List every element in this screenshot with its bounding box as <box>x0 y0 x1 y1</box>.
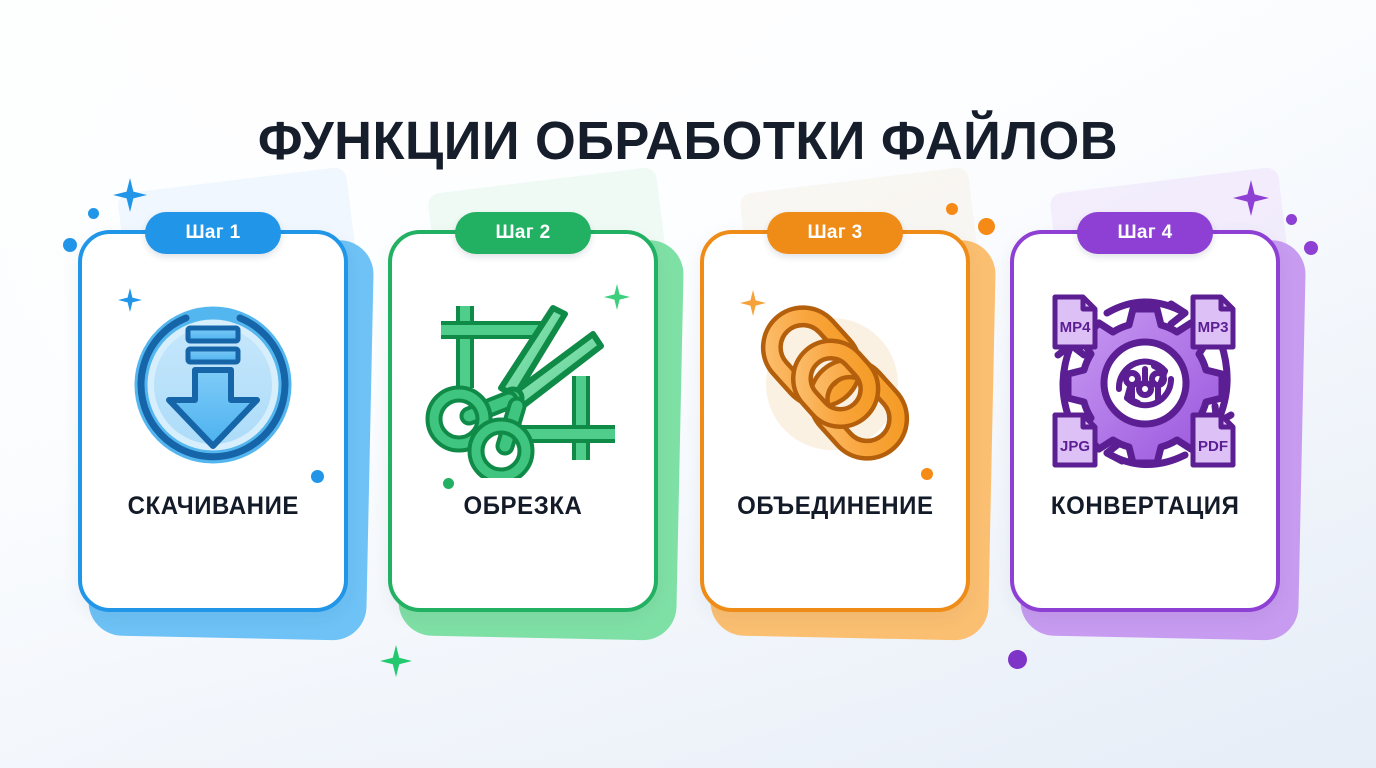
scissors-crop-icon <box>418 280 628 486</box>
card-label: ОБЪЕДИНЕНИЕ <box>737 492 934 521</box>
card-label: СКАЧИВАНИЕ <box>127 492 298 521</box>
card-step-2[interactable]: Шаг 2 <box>388 196 678 646</box>
file-badge-label: MP4 <box>1060 319 1092 336</box>
card-face[interactable]: Шаг 2 <box>388 230 658 612</box>
file-badge-label: JPG <box>1060 438 1090 455</box>
card-step-3[interactable]: Шаг 3 <box>700 196 990 646</box>
card-label: ОБРЕЗКА <box>463 492 582 521</box>
step-badge[interactable]: Шаг 1 <box>145 212 281 254</box>
download-icon <box>108 280 318 486</box>
card-face[interactable]: Шаг 4 <box>1010 230 1280 612</box>
cards-row: Шаг 1 <box>0 196 1376 666</box>
file-badge-label: PDF <box>1198 438 1228 455</box>
chain-link-icon <box>730 280 940 486</box>
card-step-1[interactable]: Шаг 1 <box>78 196 368 646</box>
card-label: КОНВЕРТАЦИЯ <box>1051 492 1240 521</box>
card-face[interactable]: Шаг 3 <box>700 230 970 612</box>
card-step-4[interactable]: Шаг 4 <box>1010 196 1300 646</box>
step-badge[interactable]: Шаг 2 <box>455 212 591 254</box>
file-badge-label: MP3 <box>1198 319 1229 336</box>
step-badge[interactable]: Шаг 3 <box>767 212 903 254</box>
gear-convert-icon: MP4 MP3 JPG PDF <box>1040 280 1250 486</box>
page-title: ФУНКЦИИ ОБРАБОТКИ ФАЙЛОВ <box>21 110 1356 172</box>
step-badge[interactable]: Шаг 4 <box>1077 212 1213 254</box>
card-face[interactable]: Шаг 1 <box>78 230 348 612</box>
